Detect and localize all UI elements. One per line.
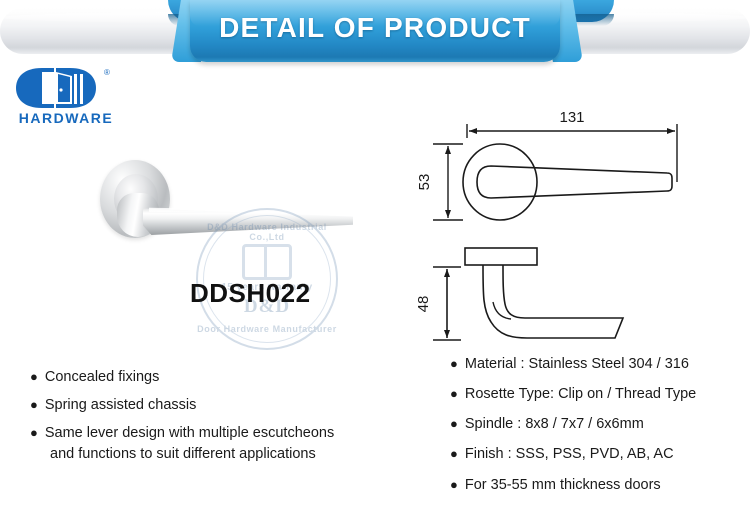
spec-text: Finish : SSS, PSS, PVD, AB, AC (465, 445, 750, 464)
header-banner: DETAIL OF PRODUCT (0, 0, 750, 62)
feature-text: Spring assisted chassis (45, 396, 430, 415)
svg-text:®: ® (104, 68, 110, 77)
product-code-label: DDSH022 (190, 278, 311, 309)
spec-text: Material : Stainless Steel 304 / 316 (465, 355, 750, 374)
spec-text: Rosette Type: Clip on / Thread Type (465, 385, 750, 404)
feature-list: ● Concealed fixings ● Spring assisted ch… (30, 368, 430, 474)
list-item: ● Same lever design with multiple escutc… (30, 424, 430, 443)
bullet-dot-icon: ● (450, 476, 458, 494)
technical-drawing-top-view: 131 53 (415, 112, 745, 232)
technical-drawing-side-view: 48 (415, 240, 745, 355)
dim-length-131: 131 (559, 112, 584, 126)
dim-projection-48: 48 (415, 296, 432, 313)
feature-text-continuation: and functions to suit different applicat… (50, 445, 430, 464)
dim-width-53: 53 (416, 174, 433, 191)
banner-title: DETAIL OF PRODUCT (190, 12, 560, 44)
feature-text: Same lever design with multiple escutche… (45, 424, 430, 443)
list-item: ● Spring assisted chassis (30, 396, 430, 415)
feature-text: Concealed fixings (45, 368, 430, 387)
logo-brand-text: HARDWARE (12, 110, 120, 126)
list-item: ● For 35-55 mm thickness doors (450, 476, 750, 495)
spec-text: For 35-55 mm thickness doors (465, 476, 750, 495)
bullet-dot-icon: ● (450, 415, 458, 433)
brand-logo: ® HARDWARE (12, 66, 120, 126)
list-item: ● Spindle : 8x8 / 7x7 / 6x6mm (450, 415, 750, 434)
list-item: ● Finish : SSS, PSS, PVD, AB, AC (450, 445, 750, 464)
list-item: ● Material : Stainless Steel 304 / 316 (450, 355, 750, 374)
bullet-dot-icon: ● (30, 396, 38, 414)
list-item: ● Rosette Type: Clip on / Thread Type (450, 385, 750, 404)
bullet-dot-icon: ● (450, 445, 458, 463)
bullet-dot-icon: ● (30, 368, 38, 386)
dd-door-logo-icon: ® (12, 66, 120, 112)
bullet-dot-icon: ● (450, 355, 458, 373)
spec-text: Spindle : 8x8 / 7x7 / 6x6mm (465, 415, 750, 434)
product-detail-page: DETAIL OF PRODUCT ® HARDWARE D&D Hardwar… (0, 0, 750, 520)
watermark-tagline: Door Hardware Manufacturer (196, 324, 338, 334)
specification-list: ● Material : Stainless Steel 304 / 316 ●… (450, 355, 750, 506)
bullet-dot-icon: ● (450, 385, 458, 403)
watermark-door-icon (242, 244, 292, 280)
watermark-company-name: D&D Hardware Industrial Co.,Ltd (196, 222, 338, 242)
list-item: ● Concealed fixings (30, 368, 430, 387)
bullet-dot-icon: ● (30, 424, 38, 442)
